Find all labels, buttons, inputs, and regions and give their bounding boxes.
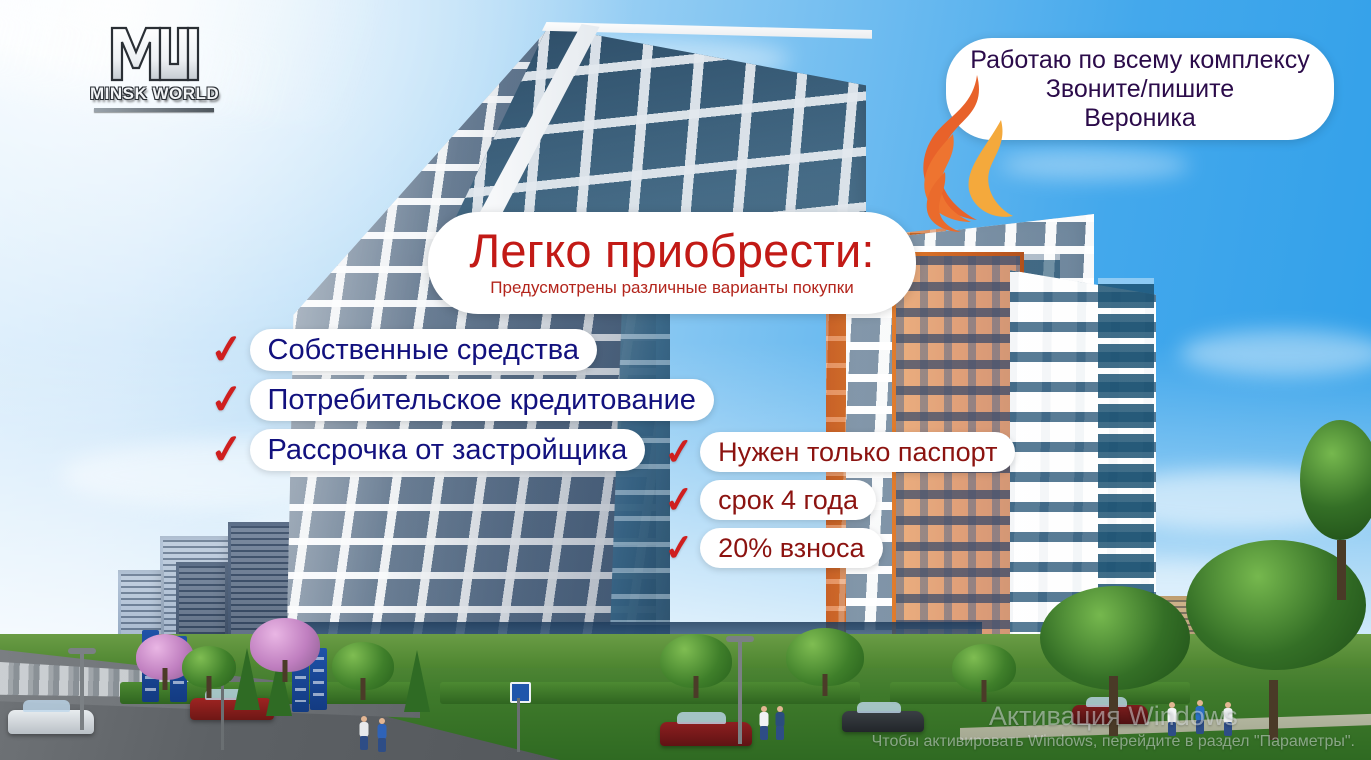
cloud <box>1000 150 1190 180</box>
tree-trunk <box>1269 680 1278 740</box>
mw-monogram-icon <box>104 18 204 84</box>
pedestrian-body <box>378 724 387 739</box>
headline-subtitle: Предусмотрены различные варианты покупки <box>490 278 853 298</box>
promo-image: MINSK WORLD Работаю по всему комплексу З… <box>0 0 1371 760</box>
payment-option-label: Потребительское кредитование <box>250 379 714 421</box>
installment-term-row[interactable]: ✓ 20% взноса <box>664 528 883 568</box>
logo-underline <box>94 108 214 112</box>
flame-icon <box>915 72 1027 237</box>
pedestrian-legs <box>1224 722 1232 736</box>
check-mark-icon: ✓ <box>208 328 246 371</box>
pedestrian-body <box>1224 708 1233 723</box>
tree <box>182 640 236 698</box>
tree <box>952 640 1016 702</box>
car <box>842 711 924 732</box>
large-tree <box>1300 420 1371 600</box>
payment-option-row[interactable]: ✓ Собственные средства <box>210 329 597 371</box>
installment-term-label: срок 4 года <box>700 480 876 520</box>
conifer-tree <box>404 650 430 712</box>
tree <box>786 622 864 696</box>
installment-term-row[interactable]: ✓ Нужен только паспорт <box>664 432 1015 472</box>
pedestrian-legs <box>776 726 784 740</box>
check-mark-icon: ✓ <box>208 428 246 471</box>
pedestrian-body <box>360 722 369 737</box>
tree-trunk <box>1109 676 1118 736</box>
headline-title: Легко приобрести: <box>469 225 874 277</box>
street-lamp <box>80 652 84 730</box>
pedestrian-legs <box>1168 722 1176 736</box>
pedestrian-crossing-sign-icon <box>510 682 531 703</box>
sign-pole <box>517 698 520 752</box>
check-mark-icon: ✓ <box>662 529 696 568</box>
tree-crown <box>1300 420 1371 540</box>
pedestrian-legs <box>378 738 386 752</box>
contact-line-1: Работаю по всему комплексу <box>970 46 1309 75</box>
check-mark-icon: ✓ <box>208 378 246 421</box>
tree-trunk <box>694 676 699 698</box>
installment-term-row[interactable]: ✓ срок 4 года <box>664 480 876 520</box>
teal-glass-column <box>1098 278 1154 608</box>
logo-wordmark: MINSK WORLD <box>90 84 218 104</box>
tree-trunk <box>163 668 168 690</box>
tree-trunk <box>823 674 828 696</box>
tree-crown <box>1040 586 1190 690</box>
pedestrian-body <box>760 712 769 727</box>
pedestrian-body <box>1168 708 1177 723</box>
payment-option-row[interactable]: ✓ Потребительское кредитование <box>210 379 714 421</box>
street-lamp <box>738 640 742 744</box>
tree-trunk <box>361 678 366 700</box>
tree-trunk <box>283 660 288 682</box>
installment-term-label: 20% взноса <box>700 528 882 568</box>
payment-option-row[interactable]: ✓ Рассрочка от застройщика <box>210 429 645 471</box>
contact-line-3: Вероника <box>1084 104 1196 133</box>
check-mark-icon: ✓ <box>662 433 696 472</box>
pedestrian-legs <box>760 726 768 740</box>
pedestrian-legs <box>360 736 368 750</box>
headline-callout: Легко приобрести: Предусмотрены различны… <box>428 212 916 314</box>
tree-trunk <box>207 676 212 698</box>
car <box>190 698 274 720</box>
payment-option-label: Рассрочка от застройщика <box>250 429 646 471</box>
tree <box>332 636 394 700</box>
check-mark-icon: ✓ <box>662 481 696 520</box>
installment-term-label: Нужен только паспорт <box>700 432 1015 472</box>
pedestrian-body <box>1196 706 1205 721</box>
pedestrian-body <box>776 712 785 727</box>
tree-trunk <box>982 680 987 702</box>
minsk-world-logo: MINSK WORLD <box>90 18 218 116</box>
tree-trunk <box>1337 540 1346 600</box>
tree <box>660 628 732 698</box>
pedestrian-legs <box>1196 720 1204 734</box>
contact-line-2: Звоните/пишите <box>1046 75 1234 104</box>
payment-option-label: Собственные средства <box>250 329 597 371</box>
blossom-tree <box>250 612 320 682</box>
